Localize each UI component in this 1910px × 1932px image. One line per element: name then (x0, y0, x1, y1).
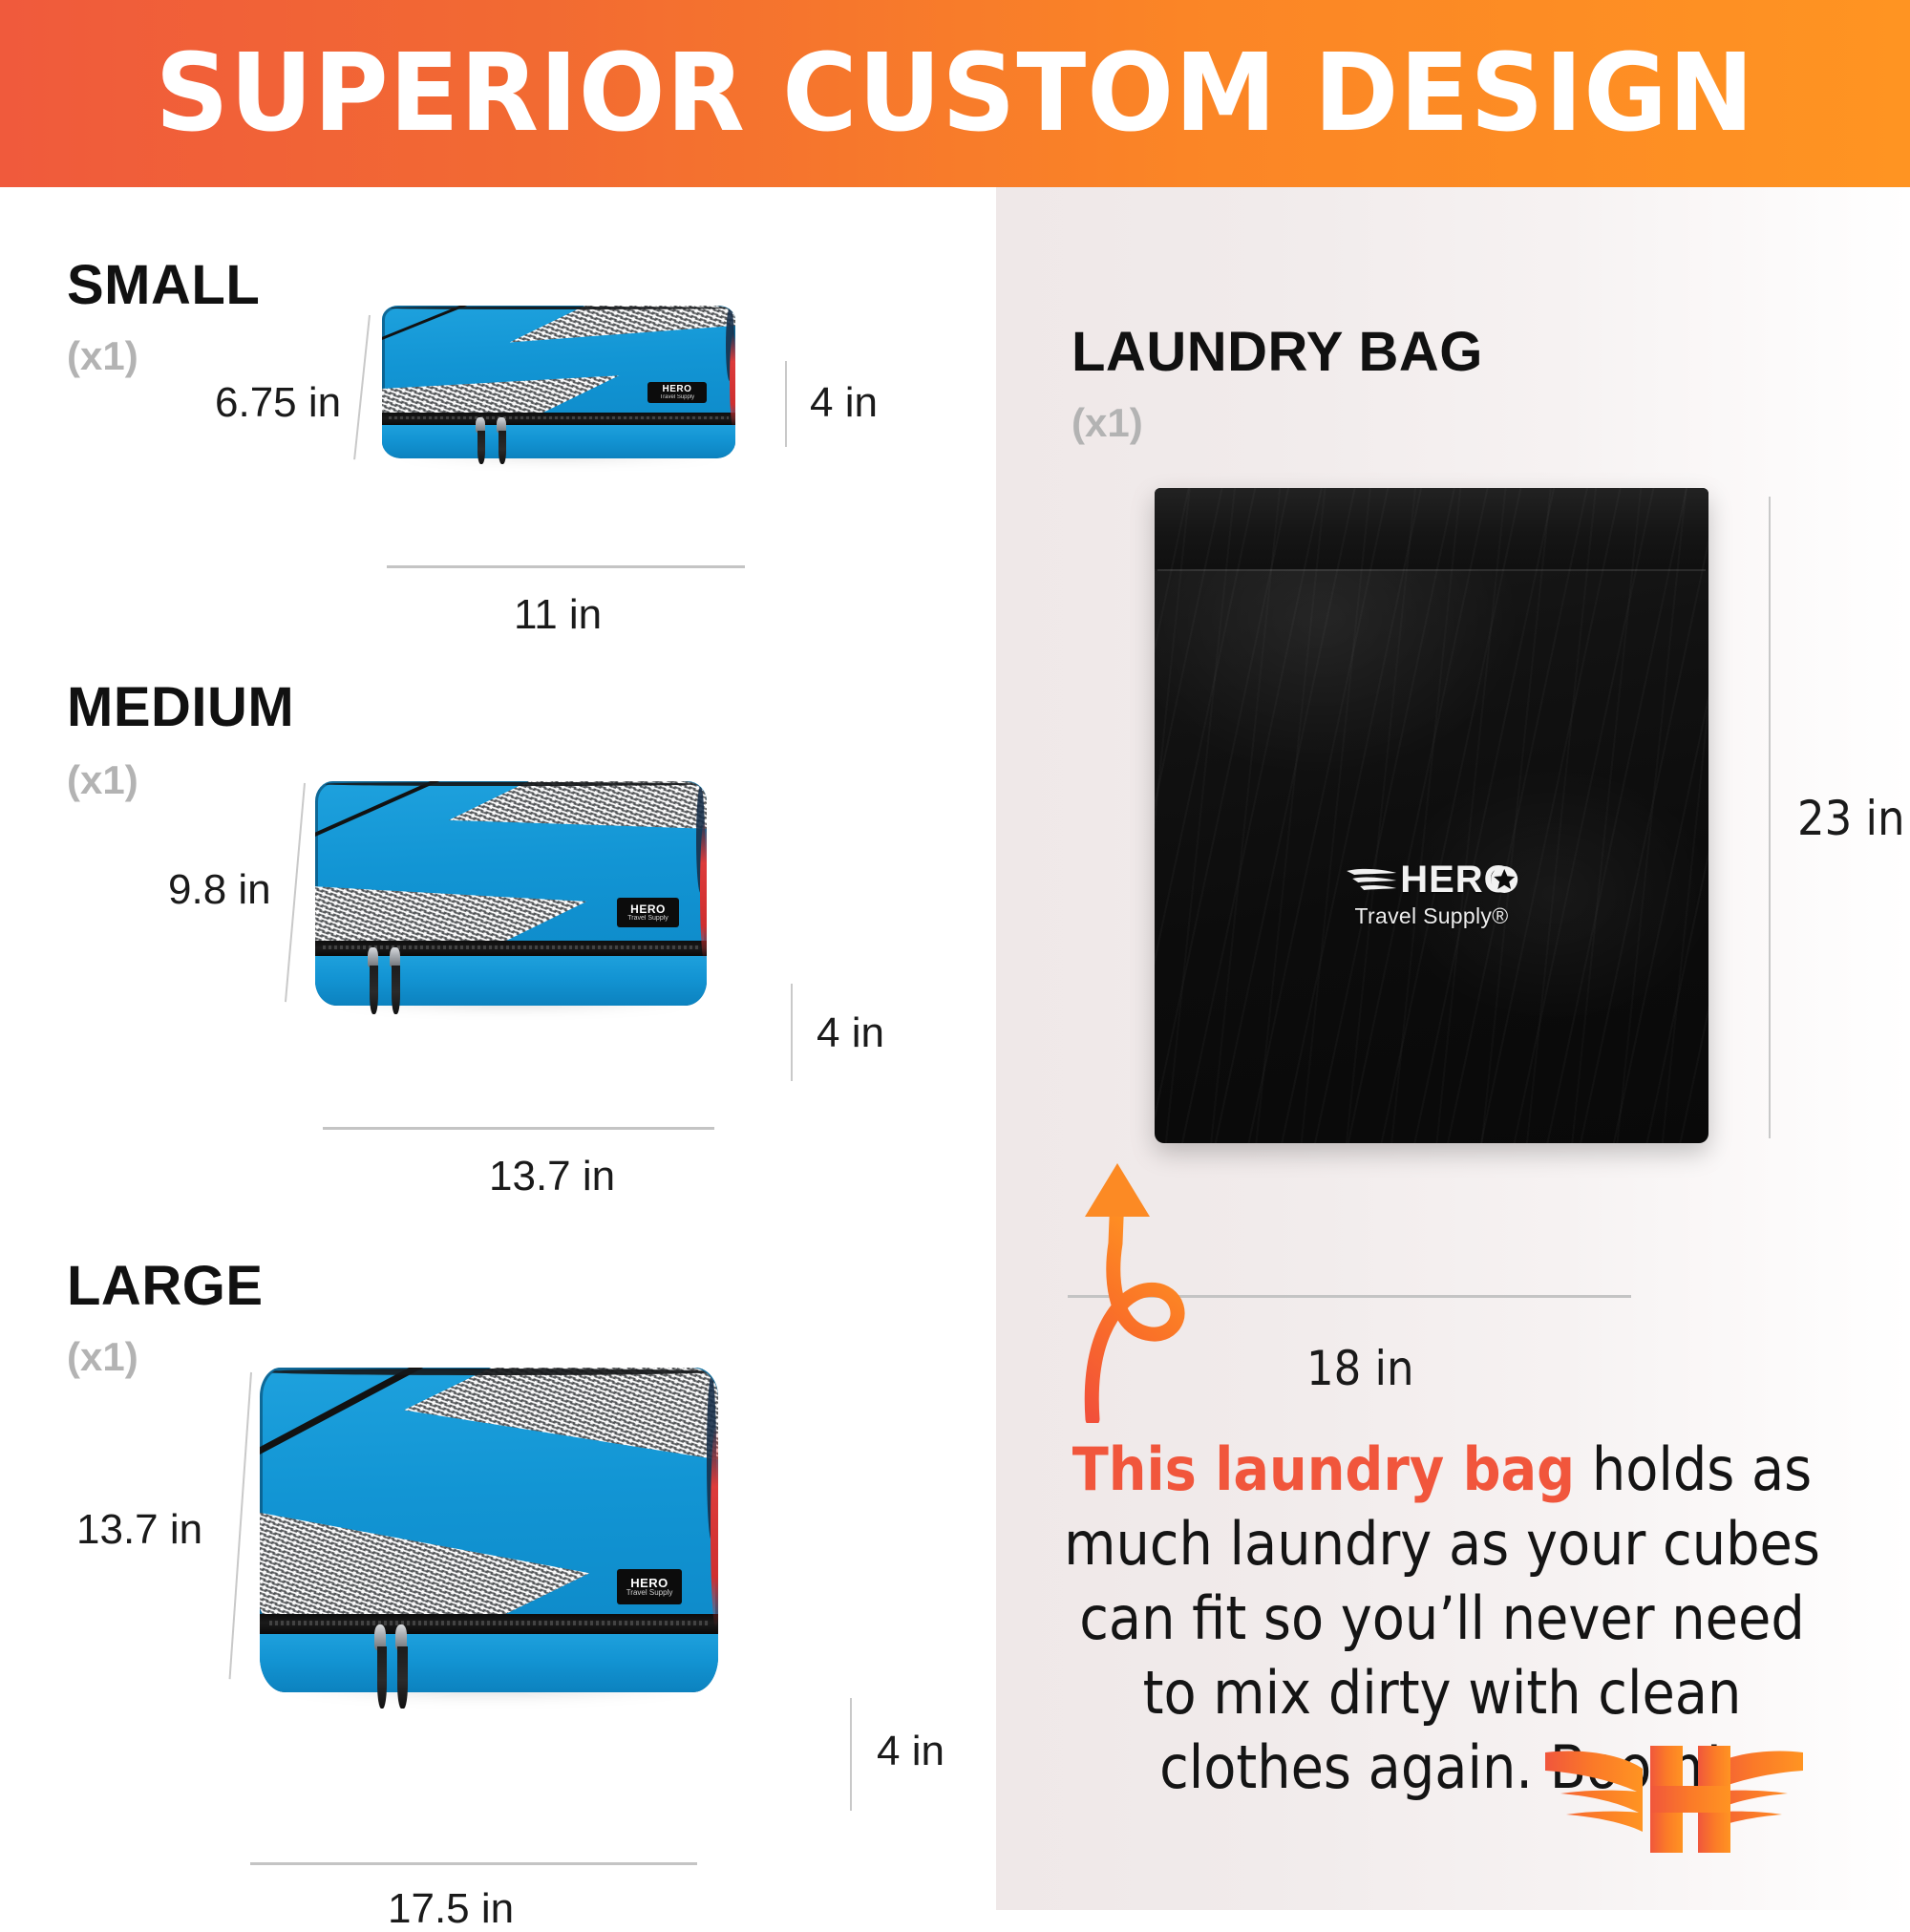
product-title-small: SMALL (67, 258, 260, 313)
product-count-laundry: (x1) (1072, 403, 1143, 443)
zipper-cord-right-small (499, 431, 506, 464)
cube-red-accent-medium (700, 821, 707, 961)
hero-label-small: HERO Travel Supply (647, 382, 708, 403)
cube-zipper-band-large (260, 1614, 718, 1633)
zipper-cord-left-small (477, 431, 485, 464)
zipper-cord-left-large (377, 1646, 388, 1709)
dimension-large-height: 13.7 in (76, 1509, 202, 1551)
header-banner: SUPERIOR CUSTOM DESIGN (0, 0, 1910, 187)
laundry-bag-image: HERO Travel Supply® (1155, 488, 1708, 1143)
laundry-bag-logo-sub: Travel Supply® (1355, 905, 1509, 927)
dimension-small-depth: 4 in (810, 382, 878, 424)
cube-zipper-teeth-small (389, 416, 728, 419)
dimension-medium-width: 13.7 in (489, 1156, 615, 1198)
cube-edge-top-small (386, 307, 732, 309)
guide-line-laundry-height (1769, 497, 1771, 1138)
zipper-cord-right-large (397, 1646, 408, 1709)
guide-line-small-height (353, 315, 371, 459)
dimension-large-width: 17.5 in (388, 1888, 514, 1930)
guide-line-large-width (250, 1862, 697, 1865)
product-count-small: (x1) (67, 336, 138, 376)
star-icon (1490, 865, 1518, 894)
guide-line-large-depth (850, 1698, 852, 1811)
guide-line-medium-width (323, 1127, 714, 1130)
dimension-large-depth: 4 in (877, 1730, 944, 1773)
cube-zipper-teeth-medium (323, 945, 699, 949)
product-count-medium: (x1) (67, 760, 138, 800)
zipper-cord-left-medium (370, 966, 378, 1015)
packing-cube-small: HERO Travel Supply (382, 306, 735, 458)
pointer-arrow-icon (1072, 1136, 1243, 1423)
cube-base-small (382, 425, 735, 458)
guide-line-small-width (387, 565, 745, 568)
guide-line-medium-height (285, 783, 306, 1002)
description-highlight: This laundry bag (1072, 1434, 1575, 1504)
brand-logo (1517, 1709, 1832, 1891)
cube-base-large (260, 1634, 718, 1692)
product-title-medium: MEDIUM (67, 680, 294, 735)
dimension-laundry-width: 18 in (1306, 1345, 1414, 1392)
zipper-pull-left-medium (368, 947, 378, 967)
product-title-large: LARGE (67, 1259, 264, 1314)
guide-line-medium-depth (791, 984, 793, 1081)
laundry-bag-fabric-texture (1155, 488, 1708, 1143)
zipper-cord-right-medium (392, 966, 400, 1015)
hero-label-medium: HERO Travel Supply (617, 898, 680, 927)
cube-zipper-band-small (382, 413, 735, 425)
dimension-small-height: 6.75 in (215, 382, 341, 424)
zipper-pull-right-medium (390, 947, 400, 967)
product-title-laundry: LAUNDRY BAG (1072, 325, 1483, 380)
cube-body-large: HERO Travel Supply (260, 1368, 718, 1692)
cube-zipper-teeth-large (269, 1621, 710, 1625)
guide-line-small-depth (785, 361, 787, 447)
hero-label-large: HERO Travel Supply (617, 1569, 681, 1604)
dimension-medium-height: 9.8 in (168, 869, 271, 911)
page-title: SUPERIOR CUSTOM DESIGN (156, 40, 1755, 147)
guide-line-large-height (229, 1372, 252, 1679)
dimension-laundry-height: 23 in (1797, 795, 1905, 842)
cube-body-small: HERO Travel Supply (382, 306, 735, 458)
cube-red-accent-large (711, 1426, 718, 1627)
wing-icon (1345, 860, 1400, 899)
cube-red-accent-small (730, 333, 735, 428)
laundry-bag-logo: HERO Travel Supply® (1345, 860, 1518, 927)
product-count-large: (x1) (67, 1337, 138, 1377)
infographic-root: SUPERIOR CUSTOM DESIGN SMALL (x1) 6.75 i… (0, 0, 1910, 1910)
dimension-small-width: 11 in (514, 594, 602, 636)
dimension-medium-depth: 4 in (817, 1012, 884, 1054)
packing-cube-medium: HERO Travel Supply (315, 781, 707, 1006)
packing-cube-large: HERO Travel Supply (260, 1368, 718, 1692)
